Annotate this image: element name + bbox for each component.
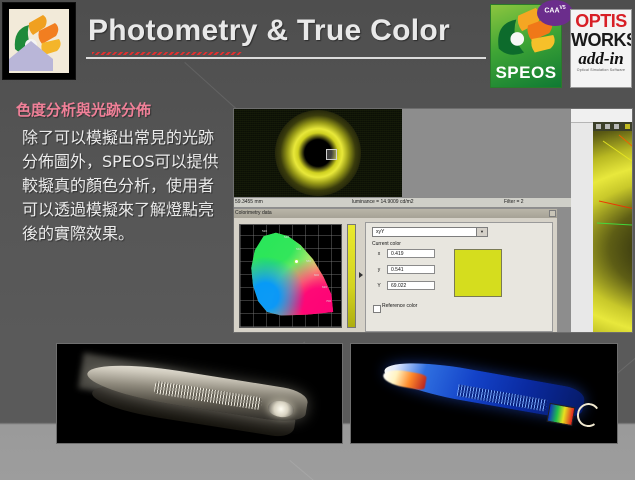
viewer-background [402,109,571,197]
caa-badge-line1: CAA [544,7,559,14]
viewport-toolbar[interactable] [593,122,633,131]
light-halo [275,110,361,196]
color-space-value: xyY [376,229,384,235]
luminance-image-view [234,109,402,197]
cie-tick-label: 580 [306,259,311,263]
cie-tick-label: 520 [262,229,267,233]
software-screenshot: 59.3455 mm luminance = 14.9009 cd/m2 Fil… [233,108,633,333]
field-value[interactable]: 0.541 [387,265,435,274]
lens-arc-highlight [575,402,601,429]
status-filter: Filter = 2 [504,198,524,207]
section-subheading: 色度分析與光跡分佈 [16,99,151,120]
slide: Photometry & True Color SPEOS CAAV5 OPTI… [0,0,635,480]
field-key: Y [374,281,384,291]
thumbnail-artwork [9,9,69,73]
optis-wordmark: OPTIS [571,12,631,31]
pan-tool-icon[interactable] [605,124,610,129]
ray-bundle [593,131,633,333]
status-bar: 59.3455 mm luminance = 14.9009 cd/m2 Fil… [234,197,571,207]
caa-badge-line2: V5 [560,5,566,11]
speos-flower-icon [9,9,69,73]
section-body-text: 除了可以模擬出常見的光跡分佈圖外，SPEOS可以提供較擬真的顏色分析，使用者可以… [22,126,222,246]
caa-v5-badge: CAAV5 [537,0,573,26]
cie-chromaticity-diagram[interactable]: 520 540 560 580 600 620 700 [239,224,342,328]
cie-tick-label: 540 [284,235,289,239]
field-value[interactable]: 69.022 [387,281,435,290]
colorimetry-dialog: Colorimetry data 520 540 560 580 600 620… [233,208,558,333]
color-swatch [454,249,502,297]
raytrace-3d-viewport [571,109,633,333]
spellcheck-underline [92,52,242,55]
optis-works-logo: OPTIS WORKS add-in Optical Simulation So… [570,9,632,88]
works-wordmark: WORKS [571,31,631,49]
addin-wordmark: add-in [571,49,631,68]
light-tool-icon[interactable] [625,124,630,129]
current-color-label: Current color [372,241,401,247]
close-icon[interactable] [549,210,556,217]
current-color-point [295,260,298,263]
dialog-title-text: Colorimetry data [235,210,272,216]
color-space-select[interactable]: xyY ▼ [372,227,488,237]
false-color-luminance-render [350,343,618,444]
speos-thumbnail-icon [2,2,76,80]
field-key: x [374,249,384,259]
status-position: 59.3455 mm [235,198,263,207]
speos-wordmark: SPEOS [491,63,561,83]
reference-color-checkbox[interactable] [373,305,381,313]
dialog-body: 520 540 560 580 600 620 700 xyY ▼ Curren… [233,218,557,333]
viewport-title-bar [571,109,633,123]
chevron-down-icon[interactable]: ▼ [476,228,487,236]
true-color-light-bar-render [56,343,343,444]
scale-pointer-icon [359,272,363,278]
reference-color-label: Reference color [382,303,417,309]
title-underline [86,57,486,59]
field-key: y [374,265,384,275]
dialog-title-bar[interactable]: Colorimetry data [233,209,557,218]
field-value[interactable]: 0.419 [387,249,435,258]
optis-tagline: Optical Simulation Software [571,68,631,72]
cie-tick-label: 600 [314,273,319,277]
background-streak [289,460,389,480]
measurement-marker [326,149,337,160]
cie-tick-label: 560 [296,247,301,251]
cie-tick-label: 620 [322,285,327,289]
status-luminance: luminance = 14.9009 cd/m2 [352,198,414,207]
luminance-color-scale [347,224,356,328]
color-values-panel: xyY ▼ Current color x 0.419 y 0.541 Y 6 [365,222,553,332]
cie-tick-label: 700 [326,299,331,303]
zoom-tool-icon[interactable] [596,124,601,129]
raytrace-canvas[interactable] [593,131,633,333]
color-legend-swatch [546,403,575,426]
rotate-tool-icon[interactable] [614,124,619,129]
